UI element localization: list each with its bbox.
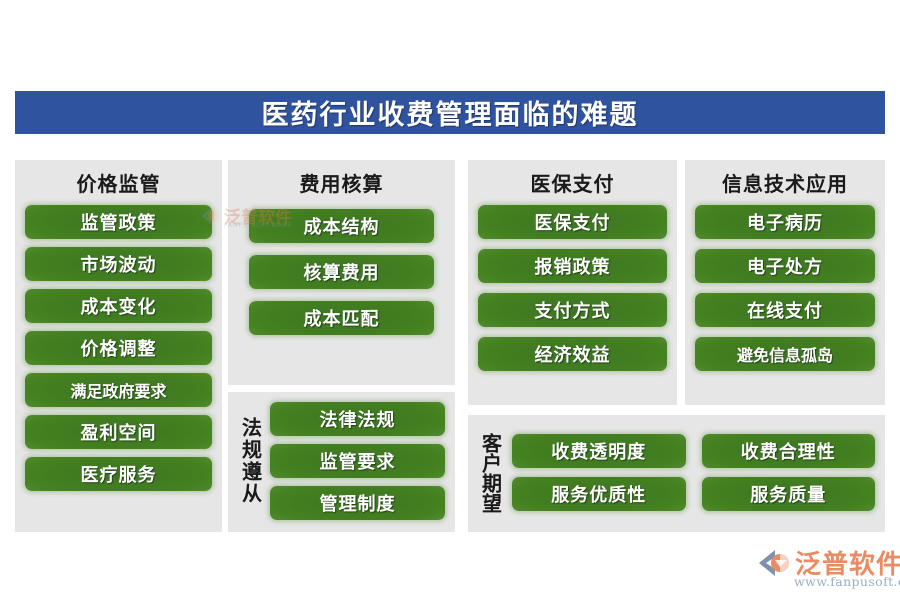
chip-price-3[interactable]: 价格调整	[25, 331, 212, 365]
chip-list-medical-insurance-payment: 医保支付 报销政策 支付方式 经济效益	[468, 201, 677, 381]
panel-price-supervision: 价格监管 监管政策 市场波动 成本变化 价格调整 满足政府要求 盈利空间 医疗服…	[15, 160, 222, 532]
panel-regulatory-compliance: 法规遵从 法律法规 监管要求 管理制度	[228, 392, 455, 532]
chip-customer-1[interactable]: 收费合理性	[702, 434, 876, 468]
panel-title-medical-insurance-payment: 医保支付	[468, 160, 677, 201]
chip-price-0[interactable]: 监管政策	[25, 205, 212, 239]
chip-it-1[interactable]: 电子处方	[695, 249, 875, 283]
chip-price-2[interactable]: 成本变化	[25, 289, 212, 323]
chip-price-1[interactable]: 市场波动	[25, 247, 212, 281]
chip-it-0[interactable]: 电子病历	[695, 205, 875, 239]
chip-insurance-0[interactable]: 医保支付	[478, 205, 667, 239]
chip-it-2[interactable]: 在线支付	[695, 293, 875, 327]
panel-title-regulatory-compliance: 法规遵从	[236, 400, 266, 522]
brand-logo: 泛普软件 www.fanpusoft.com	[757, 546, 895, 592]
panel-customer-expectation: 客户期望 收费透明度 收费合理性 服务优质性 服务质量	[468, 415, 885, 532]
chip-compliance-0[interactable]: 法律法规	[270, 402, 445, 436]
vgroup-regulatory-compliance: 法规遵从 法律法规 监管要求 管理制度	[228, 392, 455, 532]
chip-customer-0[interactable]: 收费透明度	[512, 434, 686, 468]
chip-price-6[interactable]: 医疗服务	[25, 457, 212, 491]
chip-insurance-2[interactable]: 支付方式	[478, 293, 667, 327]
chip-cost-1[interactable]: 核算费用	[249, 255, 434, 289]
panel-title-cost-accounting: 费用核算	[228, 160, 455, 201]
chip-insurance-1[interactable]: 报销政策	[478, 249, 667, 283]
vgroup-customer-expectation: 客户期望 收费透明度 收费合理性 服务优质性 服务质量	[468, 415, 885, 532]
chip-list-it-application: 电子病历 电子处方 在线支付 避免信息孤岛	[685, 201, 885, 381]
chip-it-3[interactable]: 避免信息孤岛	[695, 337, 875, 371]
panel-medical-insurance-payment: 医保支付 医保支付 报销政策 支付方式 经济效益	[468, 160, 677, 405]
panel-title-it-application: 信息技术应用	[685, 160, 885, 201]
chip-cost-0[interactable]: 成本结构	[249, 209, 434, 243]
panel-it-application: 信息技术应用 电子病历 电子处方 在线支付 避免信息孤岛	[685, 160, 885, 405]
chip-list-cost-accounting: 成本结构 核算费用 成本匹配	[228, 201, 455, 345]
chip-customer-3[interactable]: 服务质量	[702, 477, 876, 511]
fanpu-logo-mark-icon	[757, 547, 793, 579]
chip-list-price-supervision: 监管政策 市场波动 成本变化 价格调整 满足政府要求 盈利空间 医疗服务	[15, 201, 222, 501]
chip-compliance-2[interactable]: 管理制度	[270, 486, 445, 520]
chip-insurance-3[interactable]: 经济效益	[478, 337, 667, 371]
chip-customer-2[interactable]: 服务优质性	[512, 477, 686, 511]
panel-cost-accounting: 费用核算 成本结构 核算费用 成本匹配	[228, 160, 455, 385]
chip-price-5[interactable]: 盈利空间	[25, 415, 212, 449]
chip-price-4[interactable]: 满足政府要求	[25, 373, 212, 407]
chip-list-regulatory-compliance: 法律法规 监管要求 管理制度	[266, 400, 445, 522]
chip-cost-2[interactable]: 成本匹配	[249, 301, 434, 335]
chip-list-customer-expectation: 收费透明度 收费合理性 服务优质性 服务质量	[506, 421, 875, 524]
panel-title-customer-expectation: 客户期望	[476, 421, 506, 524]
panel-title-price-supervision: 价格监管	[15, 160, 222, 201]
page-title-banner: 医药行业收费管理面临的难题	[15, 91, 885, 134]
chip-compliance-1[interactable]: 监管要求	[270, 444, 445, 478]
page-title: 医药行业收费管理面临的难题	[262, 93, 639, 132]
brand-logo-url: www.fanpusoft.com	[794, 574, 900, 589]
